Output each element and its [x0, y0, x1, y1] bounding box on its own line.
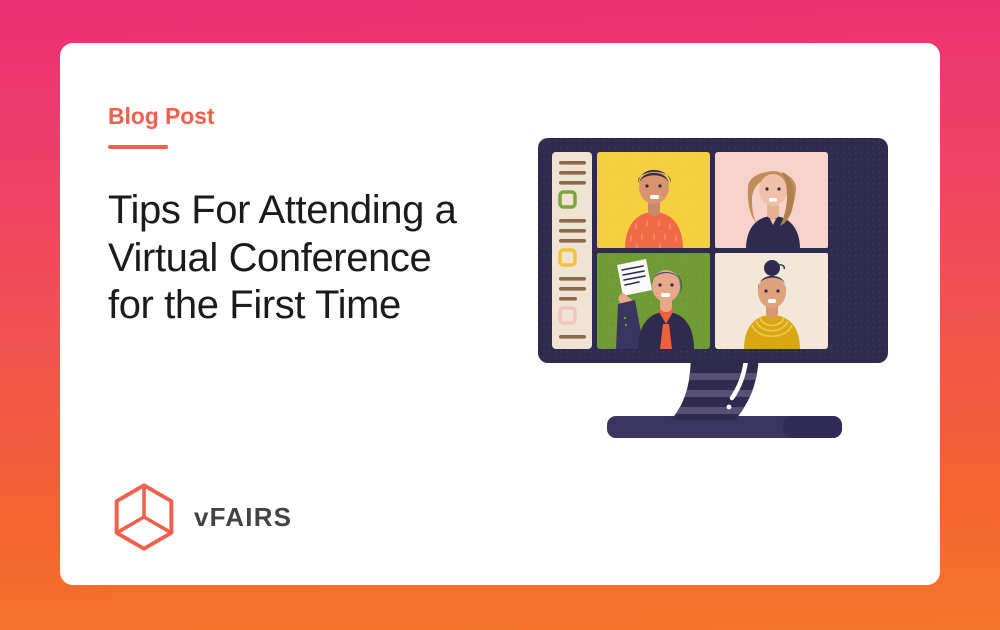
brand-name: vFAIRS	[194, 502, 292, 533]
hexagon-cube-logo-icon	[108, 481, 180, 553]
participant-tile-bottom-right	[715, 252, 828, 349]
eyebrow-label: Blog Post	[108, 105, 538, 128]
raised-document	[617, 259, 652, 296]
poster-canvas: Blog Post Tips For Attending a Virtual C…	[0, 0, 1000, 630]
screen-sidebar	[552, 152, 592, 349]
headline-line-1: Tips For Attending a	[108, 187, 538, 235]
eyebrow-underline	[108, 145, 168, 149]
participant-tile-top-left	[597, 152, 710, 249]
virtual-conference-monitor-illustration	[530, 128, 920, 458]
page-title: Tips For Attending a Virtual Conference …	[108, 187, 538, 330]
brand-logo: vFAIRS	[108, 481, 292, 553]
headline-line-2: Virtual Conference	[108, 235, 538, 283]
headline-line-3: for the First Time	[108, 282, 538, 330]
text-column: Blog Post Tips For Attending a Virtual C…	[108, 105, 538, 330]
participant-tile-top-right	[715, 152, 828, 249]
participant-tile-bottom-left	[597, 252, 710, 349]
content-card: Blog Post Tips For Attending a Virtual C…	[60, 43, 940, 585]
